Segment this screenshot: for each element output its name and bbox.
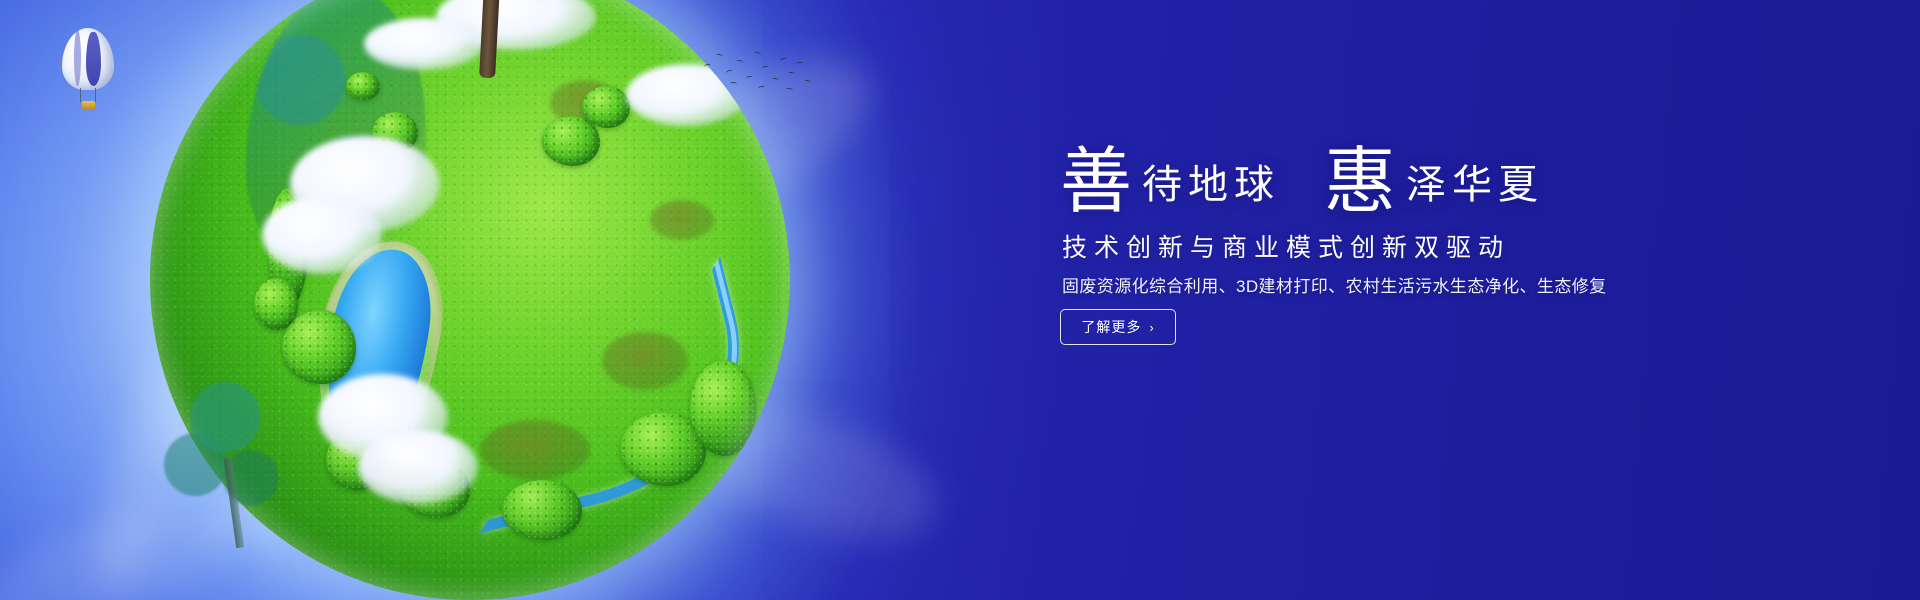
- cloud-streak: [689, 386, 951, 565]
- planet-shading: [150, 0, 790, 600]
- cloud-streak: [0, 471, 266, 600]
- soil-patch: [650, 200, 714, 240]
- bush-cluster: [502, 480, 582, 540]
- cloud-streak: [77, 331, 224, 600]
- bush-cluster: [620, 412, 706, 486]
- headline-word-1: 待地球: [1132, 162, 1280, 207]
- bush-cluster: [254, 278, 298, 330]
- bush-cluster: [268, 188, 308, 308]
- headline-word-2: 泽华夏: [1396, 162, 1544, 207]
- soil-patch: [480, 420, 590, 480]
- tree-silhouette: [158, 360, 308, 550]
- bush-cluster: [326, 430, 386, 490]
- chevron-right-icon: ›: [1149, 320, 1154, 335]
- surface-cloud: [318, 374, 448, 460]
- balloon-stripe: [74, 30, 81, 86]
- tree-trunk: [479, 0, 501, 78]
- balloon-basket: [82, 101, 95, 110]
- hero-copy: 善待地球惠泽华夏 技术创新与商业模式创新双驱动 固废资源化综合利用、3D建材打印…: [1060, 0, 1800, 600]
- lake-shoreline: [300, 232, 454, 486]
- bush-cluster: [690, 360, 756, 456]
- surface-cloud: [290, 136, 440, 232]
- cloud-streak: [230, 245, 371, 555]
- soil-patch: [550, 80, 620, 126]
- river-illustration: [429, 257, 771, 533]
- hero-description: 固废资源化综合利用、3D建材打印、农村生活污水生态净化、生态修复: [1062, 272, 1607, 297]
- balloon-stripe: [86, 32, 101, 86]
- cloud-streak: [137, 49, 384, 370]
- bush-cluster: [582, 86, 630, 128]
- green-planet-illustration: [150, 0, 790, 600]
- cloud-streak: [136, 110, 344, 479]
- surface-cloud: [262, 196, 382, 274]
- lake-illustration: [311, 242, 440, 474]
- balloon-ropes: [80, 88, 96, 102]
- mountain-ridge: [246, 0, 426, 290]
- bush-cluster: [282, 310, 356, 384]
- soil-patch: [602, 332, 688, 390]
- tree-silhouette-trunk: [224, 458, 244, 548]
- surface-cloud: [436, 0, 596, 50]
- bush-cluster: [372, 112, 418, 152]
- river-highlight: [427, 259, 769, 535]
- surface-cloud: [364, 18, 484, 70]
- grass-texture: [150, 0, 790, 600]
- headline-char-2: 惠: [1324, 142, 1396, 222]
- hero-banner: 善待地球惠泽华夏 技术创新与商业模式创新双驱动 固废资源化综合利用、3D建材打印…: [0, 0, 1920, 600]
- bush-cluster: [542, 116, 600, 166]
- surface-cloud: [358, 430, 478, 504]
- learn-more-button[interactable]: 了解更多 ›: [1060, 309, 1176, 345]
- bush-cluster: [346, 72, 380, 100]
- cloud-streak: [247, 0, 473, 193]
- bush-cluster: [400, 460, 470, 518]
- headline-char-1: 善: [1060, 142, 1132, 222]
- hot-air-balloon-icon: [62, 28, 114, 114]
- page-title: 善待地球惠泽华夏: [1060, 146, 1544, 218]
- hero-subtitle: 技术创新与商业模式创新双驱动: [1062, 228, 1510, 264]
- bird-flock-icon: [700, 48, 820, 94]
- planet-limb-glow: [150, 0, 790, 600]
- planet-sphere: [150, 0, 790, 600]
- learn-more-label: 了解更多: [1081, 317, 1141, 337]
